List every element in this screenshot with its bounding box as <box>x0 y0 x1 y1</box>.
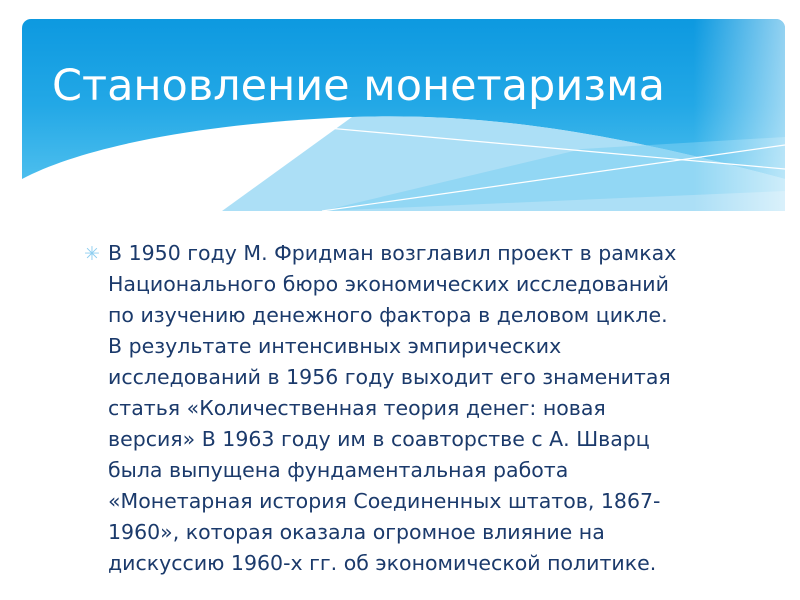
presentation-slide: Становление монетаризма ✳ В 1950 году М.… <box>0 0 800 600</box>
bullet-paragraph-text: В 1950 году М. Фридман возглавил проект … <box>108 241 676 575</box>
slide-body: ✳ В 1950 году М. Фридман возглавил проек… <box>80 238 740 579</box>
list-item: ✳ В 1950 году М. Фридман возглавил проек… <box>80 238 740 579</box>
asterisk-bullet-icon: ✳ <box>84 239 100 270</box>
page-title: Становление монетаризма <box>52 56 772 116</box>
